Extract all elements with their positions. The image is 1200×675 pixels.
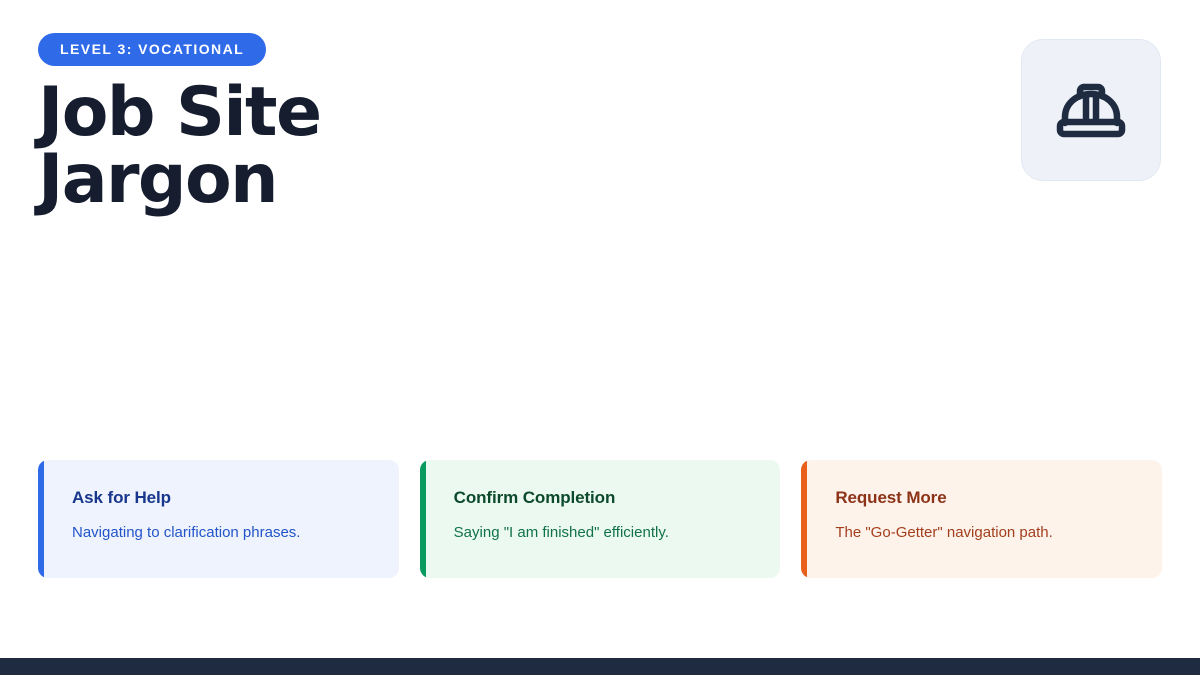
card-title: Request More [835, 488, 1162, 508]
slide-canvas: LEVEL 3: VOCATIONAL Job Site Jargon Ask … [0, 0, 1200, 675]
card-ask-for-help[interactable]: Ask for Help Navigating to clarification… [38, 460, 399, 578]
level-badge: LEVEL 3: VOCATIONAL [38, 33, 266, 66]
card-description: Navigating to clarification phrases. [72, 523, 399, 543]
card-description: Saying "I am finished" efficiently. [454, 523, 781, 543]
card-request-more[interactable]: Request More The "Go-Getter" navigation … [801, 460, 1162, 578]
card-confirm-completion[interactable]: Confirm Completion Saying "I am finished… [420, 460, 781, 578]
card-description: The "Go-Getter" navigation path. [835, 523, 1162, 543]
hard-hat-icon-tile [1021, 39, 1161, 181]
card-accent-bar [420, 460, 426, 578]
card-title: Ask for Help [72, 488, 399, 508]
card-title: Confirm Completion [454, 488, 781, 508]
card-row: Ask for Help Navigating to clarification… [38, 460, 1162, 578]
footer-bar [0, 658, 1200, 675]
hard-hat-icon [1052, 78, 1130, 142]
page-title: Job Site Jargon [38, 80, 468, 213]
slide-header: LEVEL 3: VOCATIONAL Job Site Jargon [38, 33, 998, 213]
card-accent-bar [38, 460, 44, 578]
card-accent-bar [801, 460, 807, 578]
